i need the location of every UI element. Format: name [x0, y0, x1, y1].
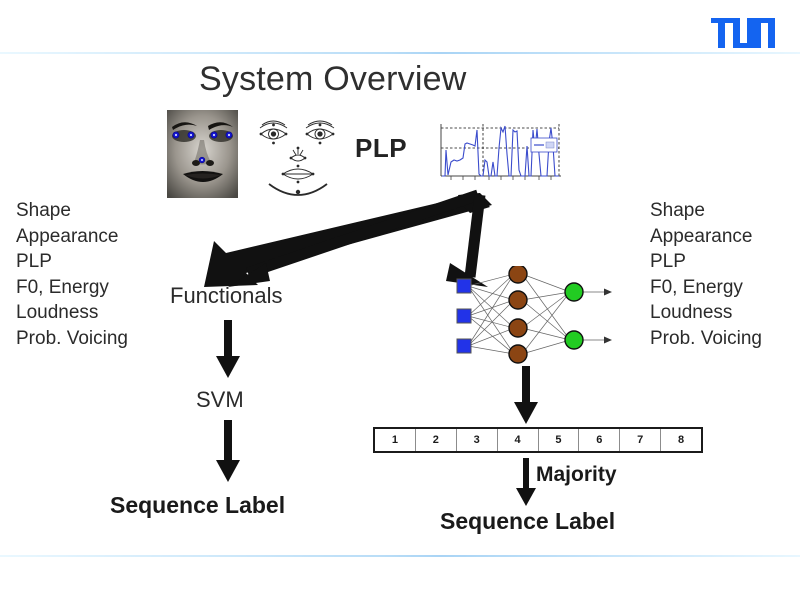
sequence-label-right: Sequence Label	[440, 508, 615, 535]
sequence-cell[interactable]: 1	[375, 429, 416, 451]
feature-item: Prob. Voicing	[650, 326, 762, 352]
feature-item: Shape	[650, 198, 762, 224]
feature-item: PLP	[650, 249, 762, 275]
sequence-label-left: Sequence Label	[110, 492, 285, 519]
tum-logo	[711, 18, 775, 48]
sequence-cell[interactable]: 4	[498, 429, 539, 451]
sequence-cell[interactable]: 2	[416, 429, 457, 451]
plp-label: PLP	[355, 133, 407, 164]
functionals-label: Functionals	[170, 283, 283, 309]
feature-list-right: Shape Appearance PLP F0, Energy Loudness…	[650, 198, 762, 351]
page-title: System Overview	[199, 60, 467, 99]
header-divider	[0, 52, 800, 54]
sequence-cell[interactable]: 6	[579, 429, 620, 451]
feature-list-left: Shape Appearance PLP F0, Energy Loudness…	[16, 198, 128, 351]
arrow-svm-to-label	[214, 420, 242, 487]
feature-item: Loudness	[650, 300, 762, 326]
arrow-network-to-sequence	[512, 366, 540, 429]
feature-item: F0, Energy	[650, 275, 762, 301]
sequence-cell[interactable]: 3	[457, 429, 498, 451]
arrow-functionals-to-svm	[214, 320, 242, 383]
plp-feature-plot	[427, 120, 565, 190]
sequence-cell[interactable]: 7	[620, 429, 661, 451]
sequence-cell[interactable]: 8	[661, 429, 701, 451]
footer-divider	[0, 555, 800, 557]
feature-item: Appearance	[16, 224, 128, 250]
sequence-cell[interactable]: 5	[539, 429, 580, 451]
svm-label: SVM	[196, 387, 244, 413]
neural-network-diagram	[452, 266, 612, 366]
slide-canvas: System Overview	[0, 0, 800, 599]
sequence-table[interactable]: 1 2 3 4 5 6 7 8	[373, 427, 703, 453]
feature-item: Loudness	[16, 300, 128, 326]
feature-item: Shape	[16, 198, 128, 224]
feature-item: Appearance	[650, 224, 762, 250]
feature-item: F0, Energy	[16, 275, 128, 301]
majority-label: Majority	[536, 463, 617, 487]
feature-item: Prob. Voicing	[16, 326, 128, 352]
feature-item: PLP	[16, 249, 128, 275]
